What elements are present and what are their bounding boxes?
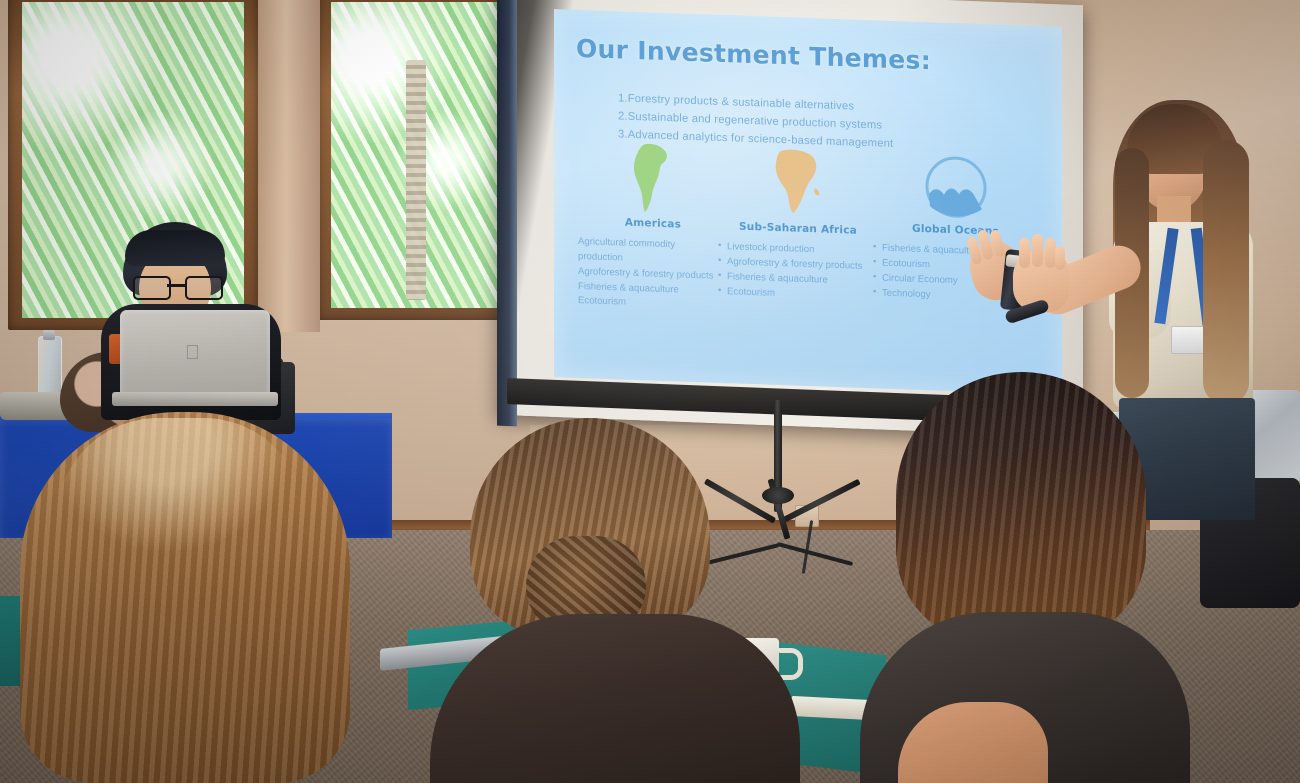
laptop-base	[112, 392, 278, 406]
hair	[896, 372, 1146, 644]
hair-strand-right	[1203, 140, 1249, 405]
slide-title: Our Investment Themes:	[576, 34, 931, 75]
screen-left-edge	[497, 0, 517, 426]
bottle-cap	[43, 330, 55, 340]
south-america-map-icon	[625, 142, 681, 216]
presentation-room-photo: Our Investment Themes: 1.Forestry produc…	[0, 0, 1300, 783]
audience-front-right	[870, 372, 1170, 783]
hair-highlight	[56, 418, 306, 568]
apple-logo-icon: 	[185, 343, 203, 365]
eyeglasses-icon	[133, 276, 219, 296]
region-bullets: Livestock production Agroforestry & fore…	[718, 240, 878, 305]
region-bullets: Agricultural commodity production Agrofo…	[578, 235, 728, 315]
projected-slide: Our Investment Themes: 1.Forestry produc…	[554, 9, 1062, 395]
audience-front-center	[430, 418, 800, 783]
shoulders	[430, 614, 800, 783]
paper-handout	[792, 696, 871, 720]
region-column-africa: Sub-Saharan Africa Livestock production …	[718, 145, 878, 305]
ocean-waves-circle-icon	[922, 152, 990, 222]
audience-front-left	[20, 412, 350, 783]
hair-fringe	[125, 230, 225, 266]
region-name: Americas	[578, 215, 728, 232]
region-column-americas: Americas Agricultural commodity producti…	[578, 140, 728, 315]
region-name: Sub-Saharan Africa	[718, 220, 878, 238]
africa-map-icon	[767, 147, 829, 221]
projection-screen: Our Investment Themes: 1.Forestry produc…	[497, 0, 1083, 426]
region-name: Global Oceans	[873, 221, 1038, 239]
palm-trunk	[406, 60, 426, 300]
